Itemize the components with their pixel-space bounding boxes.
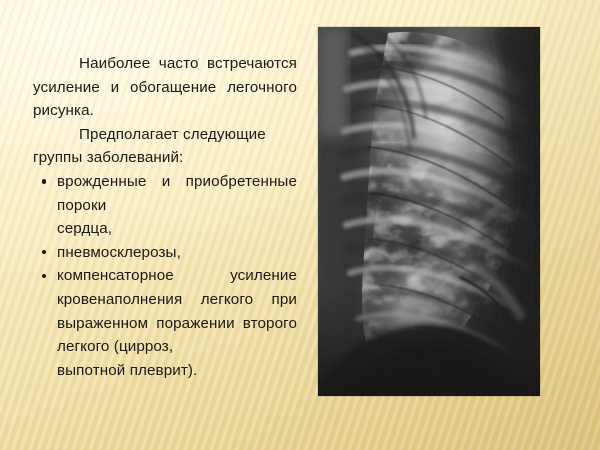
slide-canvas: Наиболее часто встречаются усиление и об… bbox=[0, 0, 600, 450]
list-item-tail: выпотной плеврит). bbox=[57, 362, 197, 379]
bullet-dot-icon bbox=[42, 179, 46, 183]
slide-text-column: Наиболее часто встречаются усиление и об… bbox=[33, 52, 297, 382]
list-item-body: компенсаторное усиление кровенаполнения … bbox=[57, 264, 297, 358]
paragraph-lead-in: Предполагает следующиегруппы заболеваний… bbox=[33, 123, 297, 170]
paragraph-intro: Наиболее часто встречаются усиление и об… bbox=[33, 52, 297, 123]
list-item-body: врожденные и приобретенные пороки bbox=[57, 170, 297, 217]
bullet-dot-icon bbox=[42, 250, 46, 254]
list-item-tail: пневмосклерозы, bbox=[57, 244, 181, 261]
paragraph-lead-in-line-1: Предполагает следующие bbox=[79, 126, 266, 143]
bullet-dot-icon bbox=[42, 274, 46, 278]
chest-xray-image bbox=[318, 27, 540, 396]
paragraph-lead-in-line-2: группы заболеваний: bbox=[33, 149, 183, 166]
list-item: врожденные и приобретенные порокисердца, bbox=[33, 170, 297, 241]
disease-group-list: врожденные и приобретенные порокисердца,… bbox=[33, 170, 297, 382]
list-item-tail: сердца, bbox=[57, 220, 112, 237]
list-item: пневмосклерозы, bbox=[33, 241, 297, 265]
list-item: компенсаторное усиление кровенаполнения … bbox=[33, 264, 297, 382]
